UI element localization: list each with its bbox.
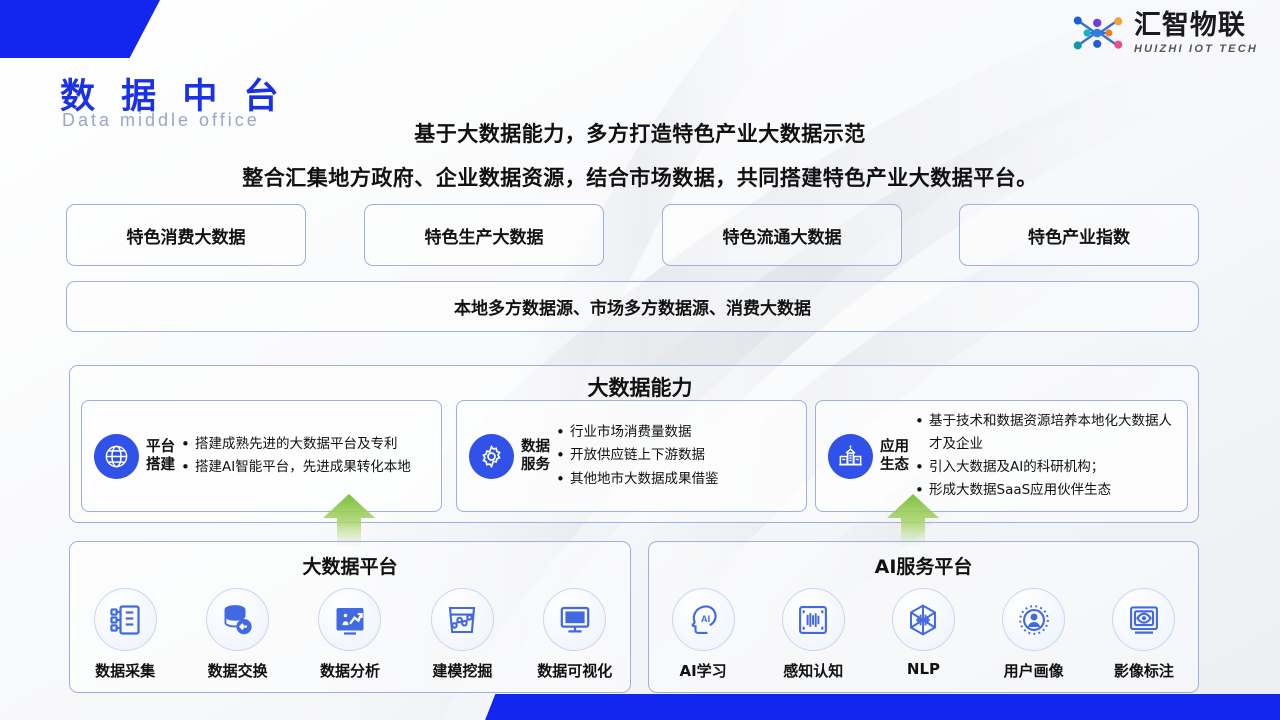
platform-item-label: 用户画像 [1004, 660, 1064, 681]
top-card-label: 特色产业指数 [1028, 223, 1130, 248]
top-card-2[interactable]: 特色流通大数据 [662, 204, 902, 266]
capability-bullet: 形成大数据SaaS应用伙伴生态 [929, 479, 1177, 502]
data-exchange-icon [206, 588, 269, 651]
perception-icon [782, 588, 845, 651]
platform-item-label: 感知认知 [783, 660, 843, 681]
data-collect-icon [94, 588, 157, 651]
top-card-label: 特色消费大数据 [127, 223, 246, 248]
molecule-network-icon [1070, 10, 1126, 56]
capability-bullet: 其他地市大数据成果借鉴 [570, 468, 796, 491]
model-mining-icon [431, 588, 494, 651]
platform-item-nlp[interactable]: NLP [873, 588, 973, 681]
platform-item-data-analysis[interactable]: 数据分析 [300, 588, 400, 681]
top-card-label: 特色流通大数据 [723, 223, 842, 248]
brand-logo: 汇智物联 HUIZHI IOT TECH [1070, 10, 1258, 56]
data-analysis-icon [318, 588, 381, 651]
capability-title: 大数据能力 [0, 372, 1280, 402]
svg-text:AI: AI [701, 614, 710, 624]
platform-item-label: NLP [907, 660, 940, 678]
platform-title-bigdata: 大数据平台 [69, 552, 631, 579]
platform-item-data-collect[interactable]: 数据采集 [75, 588, 175, 681]
globe-icon [94, 434, 139, 479]
capability-label: 平台 搭建 [146, 438, 175, 474]
platform-item-label: 影像标注 [1114, 660, 1174, 681]
ai-head-icon: AI [672, 588, 735, 651]
top-card-3[interactable]: 特色产业指数 [959, 204, 1199, 266]
platform-item-label: 数据可视化 [537, 660, 612, 681]
user-profile-icon [1002, 588, 1065, 651]
capability-bullet: 引入大数据及AI的科研机构； [929, 456, 1177, 479]
top-card-1[interactable]: 特色生产大数据 [364, 204, 604, 266]
data-visual-icon [543, 588, 606, 651]
capability-bullet: 搭建成熟先进的大数据平台及专利 [195, 433, 431, 456]
capability-bullet: 行业市场消费量数据 [570, 421, 796, 444]
capability-bullet-list: 基于技术和数据资源培养本地化大数据人才及企业 引入大数据及AI的科研机构； 形成… [909, 410, 1179, 503]
platform-item-label: 数据分析 [320, 660, 380, 681]
platform-item-image-label[interactable]: 影像标注 [1094, 588, 1194, 681]
platform-item-perception[interactable]: 感知认知 [763, 588, 863, 681]
platform-item-data-visual[interactable]: 数据可视化 [525, 588, 625, 681]
logo-text-en: HUIZHI IOT TECH [1134, 44, 1258, 55]
capability-box-ecosystem[interactable]: 应用 生态 基于技术和数据资源培养本地化大数据人才及企业 引入大数据及AI的科研… [815, 400, 1188, 512]
platform-item-label: AI学习 [679, 660, 726, 681]
capability-bullet-list: 搭建成熟先进的大数据平台及专利 搭建AI智能平台，先进成果转化本地 [175, 433, 433, 479]
building-icon [828, 434, 873, 479]
platform-items-ai: AI AI学习 感知认知 [648, 588, 1199, 681]
platform-items-bigdata: 数据采集 数据交换 [69, 588, 631, 681]
platform-title-ai: AI服务平台 [648, 552, 1199, 579]
capability-bullet: 搭建AI智能平台，先进成果转化本地 [195, 456, 431, 479]
platform-item-label: 建模挖掘 [432, 660, 492, 681]
capability-bullet-list: 行业市场消费量数据 开放供应链上下游数据 其他地市大数据成果借鉴 [550, 421, 798, 491]
capability-label: 应用 生态 [880, 438, 909, 474]
headline-block: 基于大数据能力，多方打造特色产业大数据示范 整合汇集地方政府、企业数据资源，结合… [0, 118, 1280, 192]
capability-box-platform[interactable]: 平台 搭建 搭建成熟先进的大数据平台及专利 搭建AI智能平台，先进成果转化本地 [81, 400, 442, 512]
image-label-icon [1112, 588, 1175, 651]
slide-canvas: 汇智物联 HUIZHI IOT TECH 数 据 中 台 Data middle… [0, 0, 1280, 720]
capability-bullet: 开放供应链上下游数据 [570, 444, 796, 467]
platform-item-data-exchange[interactable]: 数据交换 [188, 588, 288, 681]
platform-item-ai-learning[interactable]: AI AI学习 [653, 588, 753, 681]
gear-icon [469, 434, 514, 479]
green-up-arrow-1 [321, 494, 377, 546]
headline-line-1: 基于大数据能力，多方打造特色产业大数据示范 [0, 118, 1280, 148]
capability-label: 数据 服务 [521, 438, 550, 474]
green-up-arrow-2 [885, 494, 941, 546]
headline-line-2: 整合汇集地方政府、企业数据资源，结合市场数据，共同搭建特色产业大数据平台。 [0, 162, 1280, 192]
capability-box-data-service[interactable]: 数据 服务 行业市场消费量数据 开放供应链上下游数据 其他地市大数据成果借鉴 [456, 400, 807, 512]
capability-bullet: 基于技术和数据资源培养本地化大数据人才及企业 [929, 410, 1177, 456]
nlp-network-icon [892, 588, 955, 651]
platform-item-model-mining[interactable]: 建模挖掘 [412, 588, 512, 681]
data-sources-label: 本地多方数据源、市场多方数据源、消费大数据 [454, 294, 811, 319]
top-card-label: 特色生产大数据 [425, 223, 544, 248]
platform-item-label: 数据采集 [95, 660, 155, 681]
platform-item-user-profile[interactable]: 用户画像 [984, 588, 1084, 681]
data-sources-band[interactable]: 本地多方数据源、市场多方数据源、消费大数据 [66, 281, 1199, 332]
logo-text-cn: 汇智物联 [1134, 12, 1258, 39]
platform-item-label: 数据交换 [208, 660, 268, 681]
top-card-0[interactable]: 特色消费大数据 [66, 204, 306, 266]
